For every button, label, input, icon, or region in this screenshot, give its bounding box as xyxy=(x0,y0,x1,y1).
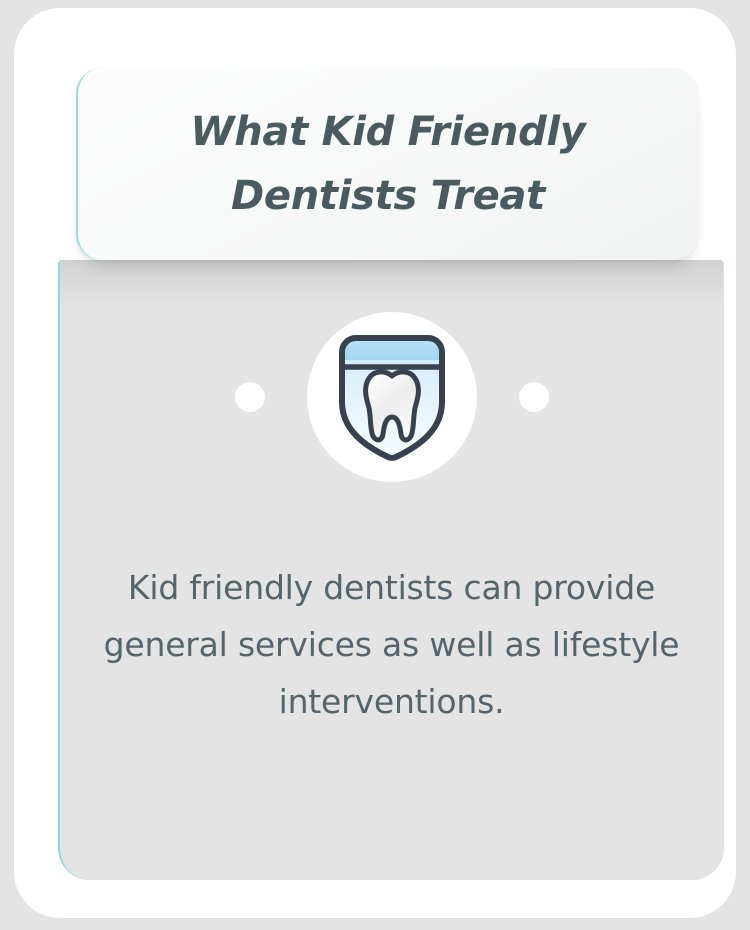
info-card: Kid friendly dentists can provide genera… xyxy=(14,8,736,918)
card-media-row xyxy=(60,312,723,482)
decorative-dot-left-icon xyxy=(235,382,265,412)
icon-badge xyxy=(307,312,477,482)
shield-tooth-icon xyxy=(333,330,451,464)
card-header: What Kid Friendly Dentists Treat xyxy=(76,68,698,260)
card-body-text: Kid friendly dentists can provide genera… xyxy=(68,560,715,730)
card-body-panel: Kid friendly dentists can provide genera… xyxy=(58,260,724,880)
decorative-dot-right-icon xyxy=(519,382,549,412)
card-title: What Kid Friendly Dentists Treat xyxy=(78,100,698,228)
panel-top-shadow xyxy=(60,260,723,306)
